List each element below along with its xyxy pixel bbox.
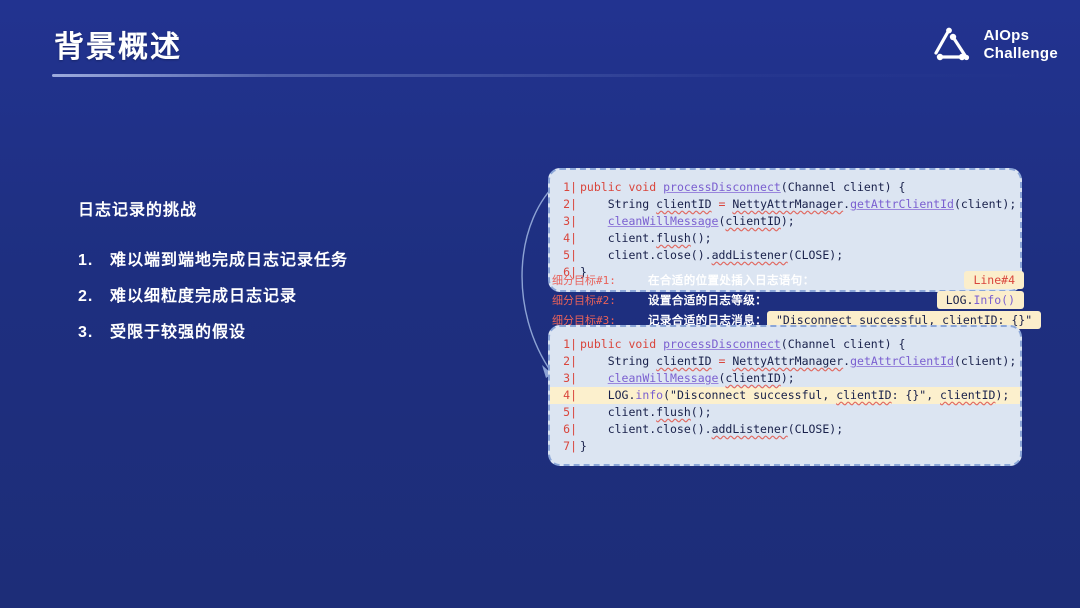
title-divider <box>52 74 1032 77</box>
line-number: 1| <box>550 336 580 353</box>
code-line: 2| String clientID = NettyAttrManager.ge… <box>550 196 1020 213</box>
list-item-label: 受限于较强的假设 <box>110 318 246 342</box>
list-item: 1. 难以端到端地完成日志记录任务 <box>78 246 478 270</box>
code-text: client.close().addListener(CLOSE); <box>580 421 1014 438</box>
code-line: 5| client.flush(); <box>550 404 1020 421</box>
annotation-row-2: 细分目标#2: 设置合适的日志等级： LOG.Info() <box>552 290 1024 309</box>
annotation-tag: 细分目标#1: <box>552 272 648 288</box>
code-line: 1| public void processDisconnect(Channel… <box>550 336 1020 353</box>
code-text: } <box>580 438 1014 455</box>
list-item-label: 难以细粒度完成日志记录 <box>110 282 297 306</box>
code-text: cleanWillMessage(clientID); <box>580 370 1014 387</box>
code-text: String clientID = NettyAttrManager.getAt… <box>580 196 1016 213</box>
list-item: 3. 受限于较强的假设 <box>78 318 478 342</box>
code-line: 4| client.flush(); <box>550 230 1020 247</box>
line-number: 1| <box>550 179 580 196</box>
page-title: 背景概述 <box>54 22 182 66</box>
code-text: String clientID = NettyAttrManager.getAt… <box>580 353 1016 370</box>
annotation-row-1: 细分目标#1: 在合适的位置处插入日志语句： Line#4 <box>552 270 1024 289</box>
code-text: client.flush(); <box>580 404 1014 421</box>
code-line: 7| } <box>550 438 1020 455</box>
brand-logo: AIOps Challenge <box>931 24 1058 66</box>
list-item-number: 3. <box>78 324 110 342</box>
line-number: 2| <box>550 353 580 370</box>
line-number: 6| <box>550 421 580 438</box>
code-text: client.close().addListener(CLOSE); <box>580 247 1014 264</box>
list-item-label: 难以端到端地完成日志记录任务 <box>110 246 348 270</box>
code-text: LOG.info("Disconnect successful, clientI… <box>580 387 1014 404</box>
code-text: public void processDisconnect(Channel cl… <box>580 179 1014 196</box>
annotation-description: 设置合适的日志等级： <box>648 292 767 308</box>
line-number: 2| <box>550 196 580 213</box>
list-item: 2. 难以细粒度完成日志记录 <box>78 282 478 306</box>
code-line: 3| cleanWillMessage(clientID); <box>550 370 1020 387</box>
code-line-highlighted: 4| LOG.info("Disconnect successful, clie… <box>550 387 1020 404</box>
code-line: 5| client.close().addListener(CLOSE); <box>550 247 1020 264</box>
annotation-tag: 细分目标#2: <box>552 292 648 308</box>
challenges-list: 1. 难以端到端地完成日志记录任务 2. 难以细粒度完成日志记录 3. 受限于较… <box>78 246 478 342</box>
line-number: 5| <box>550 247 580 264</box>
logo-line-2: Challenge <box>984 45 1058 63</box>
slide-root: 背景概述 AIOps Challenge 日志记录的挑战 <box>0 0 1080 608</box>
code-line: 6| client.close().addListener(CLOSE); <box>550 421 1020 438</box>
code-line: 3| cleanWillMessage(clientID); <box>550 213 1020 230</box>
line-number: 3| <box>550 370 580 387</box>
status-badge: Line#4 <box>964 271 1024 289</box>
line-number: 5| <box>550 404 580 421</box>
line-number: 3| <box>550 213 580 230</box>
list-item-number: 2. <box>78 288 110 306</box>
code-text: public void processDisconnect(Channel cl… <box>580 336 1014 353</box>
code-block-with-logging: 1| public void processDisconnect(Channel… <box>548 325 1022 466</box>
challenges-heading: 日志记录的挑战 <box>78 196 478 220</box>
code-line: 1| public void processDisconnect(Channel… <box>550 179 1020 196</box>
line-number: 7| <box>550 438 580 455</box>
logo-line-1: AIOps <box>984 27 1058 45</box>
line-number: 4| <box>550 230 580 247</box>
challenges-panel: 日志记录的挑战 1. 难以端到端地完成日志记录任务 2. 难以细粒度完成日志记录… <box>78 196 478 354</box>
aiops-triangle-graph-icon <box>931 24 975 66</box>
annotation-description: 在合适的位置处插入日志语句： <box>648 272 815 288</box>
code-text: cleanWillMessage(clientID); <box>580 213 1014 230</box>
status-badge: LOG.Info() <box>937 291 1024 309</box>
logo-wordmark: AIOps Challenge <box>984 27 1058 62</box>
code-text: client.flush(); <box>580 230 1014 247</box>
line-number: 4| <box>550 387 580 404</box>
subgoal-annotations: 细分目标#1: 在合适的位置处插入日志语句： Line#4 细分目标#2: 设置… <box>552 270 1024 330</box>
code-line: 2| String clientID = NettyAttrManager.ge… <box>550 353 1020 370</box>
list-item-number: 1. <box>78 252 110 270</box>
